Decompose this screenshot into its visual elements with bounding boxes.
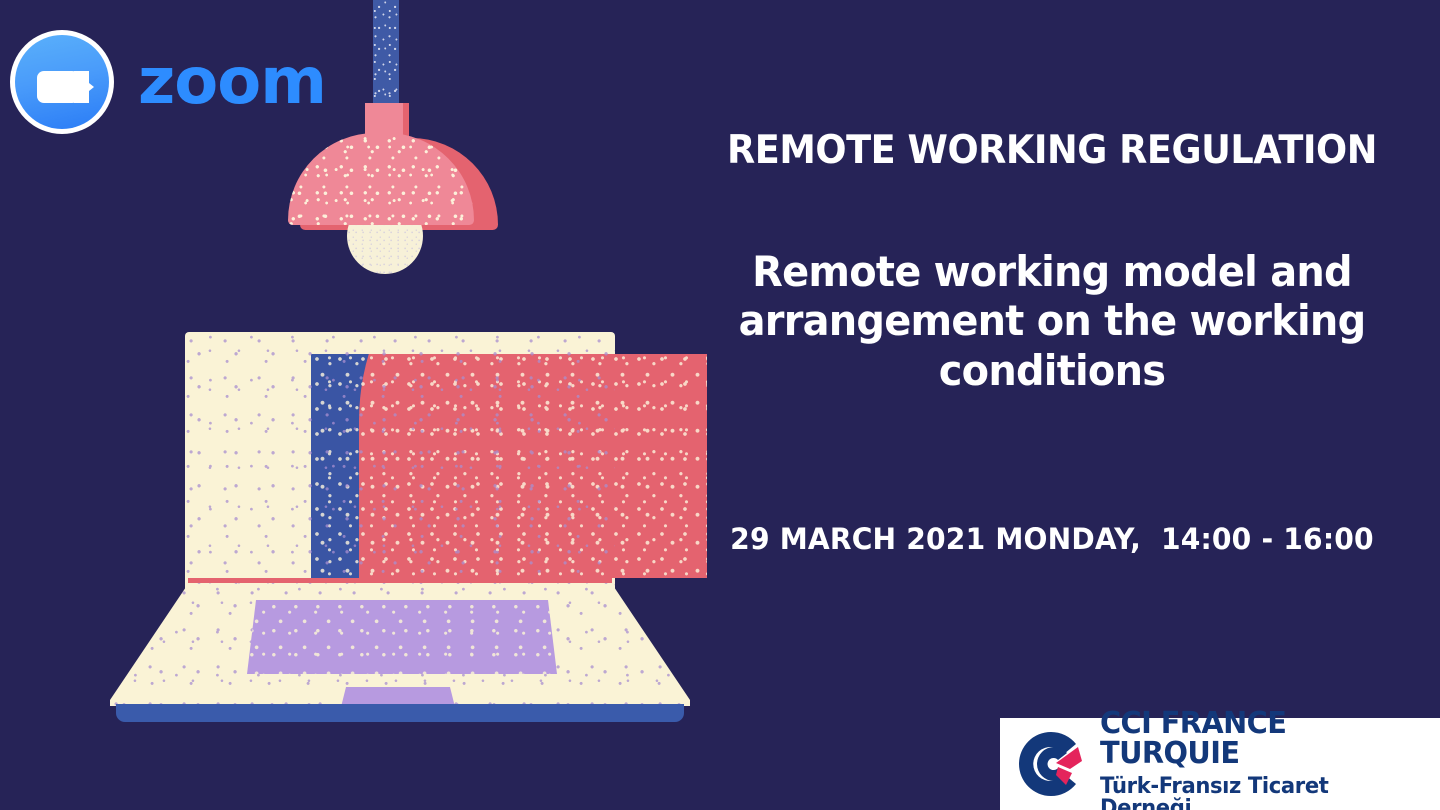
poster-text-block: REMOTE WORKING REGULATION Remote working…	[672, 130, 1432, 556]
lamp-cord	[373, 0, 399, 108]
laptop-lid	[185, 332, 615, 594]
screen-red-shape	[359, 354, 707, 578]
zoom-icon-disc	[15, 35, 109, 129]
laptop-hinge-line	[188, 578, 612, 583]
laptop-base-front-edge	[116, 704, 684, 722]
cci-logo-text: CCI FRANCE TURQUIE Türk-Fransız Ticaret …	[1100, 709, 1440, 810]
subtitle-line-1: Remote working model and	[691, 247, 1413, 297]
cci-france-turquie-logo: CCI FRANCE TURQUIE Türk-Fransız Ticaret …	[1000, 718, 1440, 810]
cci-logo-title: CCI FRANCE TURQUIE	[1100, 709, 1426, 769]
event-datetime: 29 MARCH 2021 MONDAY, 14:00 - 16:00	[683, 522, 1420, 556]
open-laptop-illustration	[110, 332, 690, 722]
laptop-keyboard	[247, 600, 557, 674]
zoom-video-camera-icon	[10, 30, 114, 134]
cci-logo-subtitle: Türk-Fransız Ticaret Derneği	[1100, 776, 1426, 810]
page-title: REMOTE WORKING REGULATION	[695, 130, 1409, 173]
camera-lens-shape	[74, 71, 94, 103]
subtitle-line-2: arrangement on the working	[691, 296, 1413, 346]
camera-body-shape	[37, 71, 79, 103]
hanging-pendant-lamp-illustration	[280, 0, 540, 300]
poster-subtitle: Remote working model and arrangement on …	[691, 247, 1413, 396]
subtitle-line-3: conditions	[691, 346, 1413, 396]
cci-france-turquie-mark	[1014, 727, 1088, 801]
webinar-announcement-poster: zoom REMOTE WORKING REGULATION Remote wo…	[0, 0, 1440, 810]
zoom-brand-lockup: zoom	[6, 16, 306, 126]
laptop-screen	[311, 354, 707, 578]
